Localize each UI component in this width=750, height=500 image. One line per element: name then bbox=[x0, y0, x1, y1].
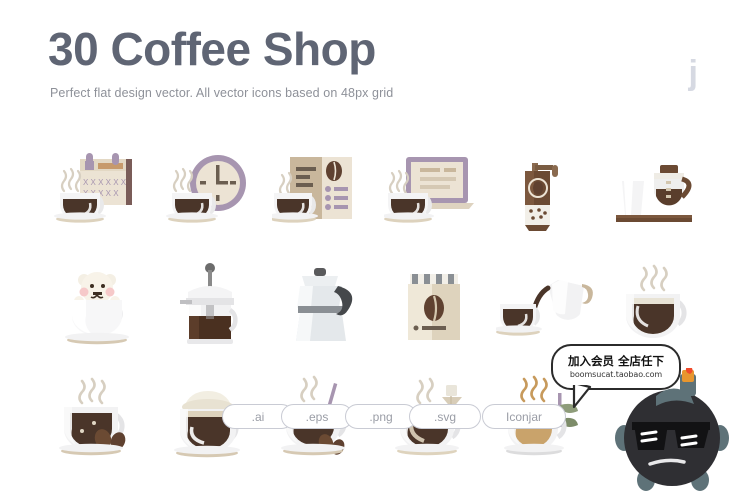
page-title: 30 Coffee Shop bbox=[48, 26, 393, 72]
icon-coffee-cup-clock[interactable] bbox=[154, 133, 266, 248]
format-pill-png-label: .png bbox=[369, 410, 392, 424]
icon-coffee-cup-laptop[interactable] bbox=[378, 133, 490, 248]
poster-canvas: 30 Coffee Shop Perfect flat design vecto… bbox=[0, 0, 750, 500]
icon-coffee-cup-calendar[interactable]: X X X X X X X X X X X bbox=[42, 133, 154, 248]
watermark-url: boomsucat.taobao.com bbox=[570, 370, 662, 380]
format-pill-png[interactable]: .png bbox=[345, 404, 417, 429]
format-pill-iconjar[interactable]: Iconjar bbox=[482, 404, 566, 429]
page-subtitle: Perfect flat design vector. All vector i… bbox=[50, 86, 393, 100]
svg-text:X X X X X X: X X X X X X bbox=[83, 178, 127, 187]
format-pill-svg-label: .svg bbox=[434, 410, 456, 424]
watermark-speech-bubble: 加入会员 全店任下 boomsucat.taobao.com bbox=[551, 344, 681, 390]
brand-logo-icon: j bbox=[689, 56, 698, 90]
icon-moka-pot[interactable] bbox=[266, 248, 378, 363]
icon-french-press[interactable] bbox=[154, 248, 266, 363]
format-pill-ai-label: .ai bbox=[252, 410, 265, 424]
format-pill-iconjar-label: Iconjar bbox=[506, 410, 542, 424]
icon-coffee-pot-glass[interactable] bbox=[602, 133, 714, 248]
format-pill-svg[interactable]: .svg bbox=[409, 404, 481, 429]
format-pill-eps-label: .eps bbox=[306, 410, 329, 424]
header: 30 Coffee Shop Perfect flat design vecto… bbox=[48, 26, 393, 100]
icon-coffee-cup-menu-board[interactable] bbox=[266, 133, 378, 248]
icon-bear-latte-art-cup[interactable] bbox=[42, 248, 154, 363]
icon-hand-coffee-grinder[interactable] bbox=[490, 133, 602, 248]
icon-coffee-cup-beans[interactable] bbox=[42, 363, 154, 478]
icon-coffee-bean-bag[interactable] bbox=[378, 248, 490, 363]
format-pill-eps[interactable]: .eps bbox=[281, 404, 353, 429]
watermark-headline: 加入会员 全店任下 bbox=[568, 355, 664, 368]
